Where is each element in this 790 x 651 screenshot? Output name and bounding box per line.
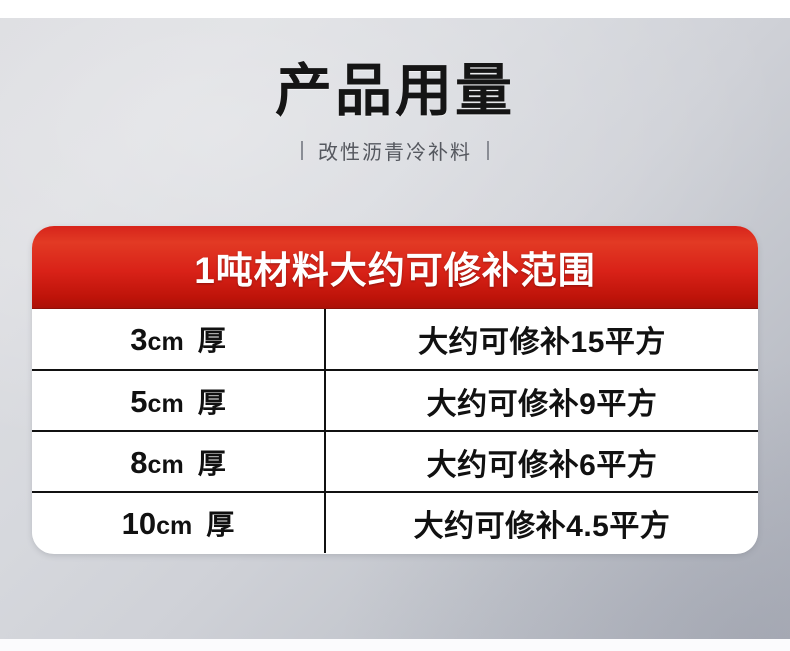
table-cell-thickness: 8cm厚 <box>32 431 325 492</box>
table-row: 5cm厚 大约可修补9平方 <box>32 370 758 431</box>
thickness-value: 8 <box>130 445 147 480</box>
table-row: 8cm厚 大约可修补6平方 <box>32 431 758 492</box>
table-cell-area: 大约可修补9平方 <box>325 370 758 431</box>
page-title: 产品用量 <box>0 62 790 122</box>
usage-card-header: 1吨材料大约可修补范围 <box>32 226 758 309</box>
table-cell-area: 大约可修补4.5平方 <box>325 492 758 553</box>
table-cell-thickness: 3cm厚 <box>32 309 325 370</box>
page-subtitle: 改性沥青冷补料 <box>318 136 472 165</box>
usage-table: 3cm厚 大约可修补15平方 5cm厚 大约可修补9平方 8cm厚 大约可修补6… <box>32 309 758 553</box>
heading-block: 产品用量 改性沥青冷补料 <box>0 62 790 165</box>
thickness-unit: cm <box>148 451 184 479</box>
bottom-white-strip <box>0 639 790 651</box>
table-row: 10cm厚 大约可修补4.5平方 <box>32 492 758 553</box>
table-cell-area: 大约可修补6平方 <box>325 431 758 492</box>
thickness-word: 厚 <box>198 448 226 479</box>
thickness-value: 3 <box>130 322 147 357</box>
table-cell-area: 大约可修补15平方 <box>325 309 758 370</box>
thickness-value: 10 <box>122 506 156 541</box>
subtitle-row: 改性沥青冷补料 <box>0 136 790 165</box>
thickness-word: 厚 <box>198 387 226 418</box>
subtitle-left-bar-icon <box>301 141 303 160</box>
thickness-unit: cm <box>148 390 184 418</box>
top-white-strip <box>0 0 790 18</box>
table-cell-thickness: 5cm厚 <box>32 370 325 431</box>
thickness-word: 厚 <box>206 509 234 540</box>
product-usage-page: 产品用量 改性沥青冷补料 1吨材料大约可修补范围 3cm厚 大约可修补15平方 <box>0 0 790 651</box>
usage-card: 1吨材料大约可修补范围 3cm厚 大约可修补15平方 5cm厚 大约可修补9平方 <box>32 226 758 554</box>
thickness-word: 厚 <box>198 325 226 356</box>
table-row: 3cm厚 大约可修补15平方 <box>32 309 758 370</box>
subtitle-right-bar-icon <box>487 141 489 160</box>
thickness-unit: cm <box>148 328 184 356</box>
thickness-value: 5 <box>130 384 147 419</box>
usage-card-header-title: 1吨材料大约可修补范围 <box>194 240 596 294</box>
thickness-unit: cm <box>156 512 192 540</box>
table-cell-thickness: 10cm厚 <box>32 492 325 553</box>
